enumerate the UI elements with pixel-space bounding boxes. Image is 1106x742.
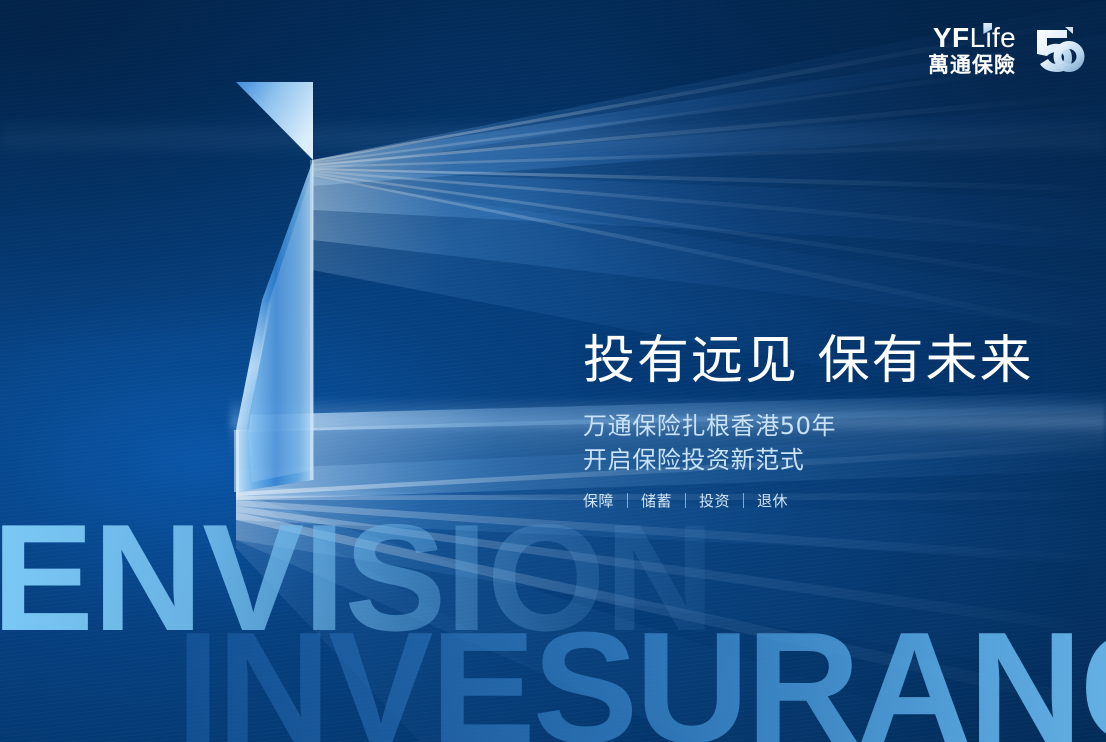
copy-block: 投有远见 保有未来 万通保险扎根香港50年 开启保险投资新范式 保障 储蓄 投资…	[583, 331, 1043, 511]
tag-separator	[743, 493, 744, 508]
subtitle-line-1: 万通保险扎根香港50年	[583, 409, 1043, 443]
tag-tuixiu[interactable]: 退休	[757, 490, 788, 511]
subtitle-block: 万通保险扎根香港50年 开启保险投资新范式	[583, 409, 1043, 477]
page-title: 投有远见 保有未来	[583, 331, 1043, 391]
brand-logo-lockup[interactable]: YFLife 萬通保險	[928, 24, 1088, 76]
tag-chuxu[interactable]: 储蓄	[641, 490, 672, 511]
brand-wordmark-en: YFLife	[933, 24, 1016, 52]
brand-wordmark-life: Life	[970, 22, 1016, 53]
category-tag-list: 保障 储蓄 投资 退休	[583, 490, 1043, 511]
brand-wordmark: YFLife 萬通保險	[928, 24, 1016, 76]
key-visual-poster: ENVISION INVESURANCE YFLife 萬通保險	[0, 0, 1106, 742]
brand-wordmark-yf: YF	[933, 22, 970, 53]
tag-baozhang[interactable]: 保障	[583, 490, 614, 511]
tag-touzi[interactable]: 投资	[699, 490, 730, 511]
subtitle-line-2: 开启保险投资新范式	[583, 443, 1043, 477]
tag-separator	[685, 493, 686, 508]
brand-wordmark-cn: 萬通保險	[928, 55, 1016, 76]
anniversary-50-icon	[1030, 24, 1088, 76]
tag-separator	[627, 493, 628, 508]
